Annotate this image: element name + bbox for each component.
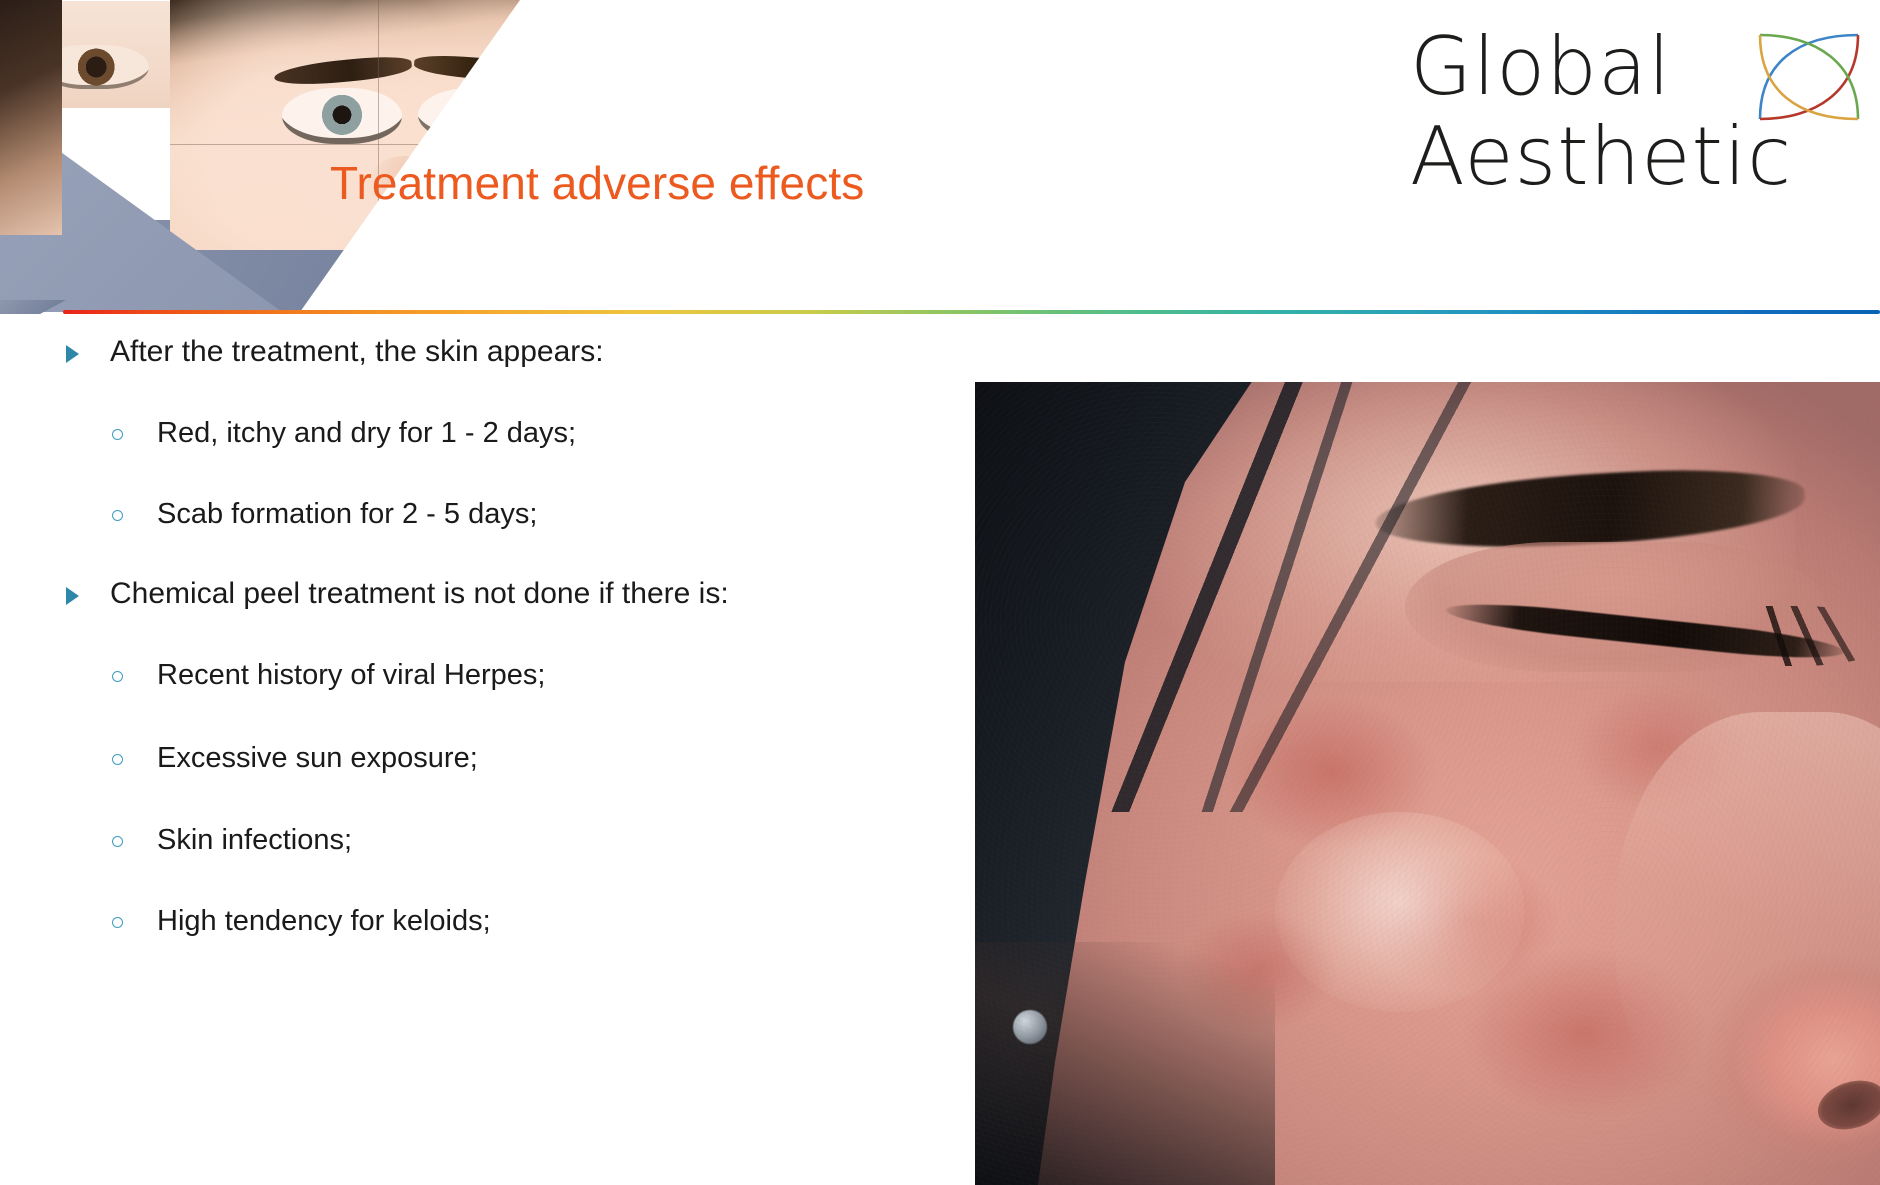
- list-item[interactable]: High tendency for keloids;: [112, 901, 491, 941]
- triangle-bullet-icon: [66, 345, 79, 363]
- post-peel-facial-erythema-photo: [975, 382, 1880, 1185]
- circle-bullet-icon: [112, 671, 123, 682]
- list-item[interactable]: Excessive sun exposure;: [112, 738, 478, 778]
- list-item-label: Recent history of viral Herpes;: [157, 655, 545, 695]
- logo-line-2-row: Aesthetic: [1410, 117, 1870, 209]
- brand-logo: Global Aesthetic: [1410, 12, 1870, 222]
- triangle-bullet-icon: [66, 587, 79, 605]
- list-item-label: High tendency for keloids;: [157, 901, 491, 941]
- list-item[interactable]: Chemical peel treatment is not done if t…: [66, 574, 729, 614]
- list-item-label: Chemical peel treatment is not done if t…: [110, 574, 729, 614]
- circle-bullet-icon: [112, 429, 123, 440]
- collage-tile-far-left-strip: [0, 0, 62, 235]
- list-item-label: Skin infections;: [157, 820, 352, 860]
- rainbow-divider: [63, 310, 1880, 314]
- list-item[interactable]: After the treatment, the skin appears:: [66, 332, 604, 372]
- circle-bullet-icon: [112, 510, 123, 521]
- logo-line-1-row: Global: [1410, 25, 1870, 117]
- photo-skin-texture: [975, 382, 1880, 1185]
- list-item[interactable]: Red, itchy and dry for 1 - 2 days;: [112, 413, 576, 453]
- list-item-label: Scab formation for 2 - 5 days;: [157, 494, 537, 534]
- page-title: Treatment adverse effects: [330, 158, 864, 209]
- circle-bullet-icon: [112, 917, 123, 928]
- slide-root: Treatment adverse effects Global Aesthet…: [0, 0, 1880, 1185]
- circle-bullet-icon: [112, 754, 123, 765]
- circle-bullet-icon: [112, 836, 123, 847]
- list-item[interactable]: Skin infections;: [112, 820, 352, 860]
- list-item-label: Excessive sun exposure;: [157, 738, 478, 778]
- slide-body: After the treatment, the skin appears: R…: [0, 318, 980, 1185]
- list-item-label: After the treatment, the skin appears:: [110, 332, 604, 372]
- logo-word-aesthetic: Aesthetic: [1410, 111, 1792, 203]
- list-item[interactable]: Recent history of viral Herpes;: [112, 655, 545, 695]
- logo-word-global: Global: [1410, 21, 1671, 113]
- list-item-label: Red, itchy and dry for 1 - 2 days;: [157, 413, 576, 453]
- eye-left: [282, 88, 402, 144]
- eyebrow-left: [273, 54, 412, 88]
- list-item[interactable]: Scab formation for 2 - 5 days;: [112, 494, 537, 534]
